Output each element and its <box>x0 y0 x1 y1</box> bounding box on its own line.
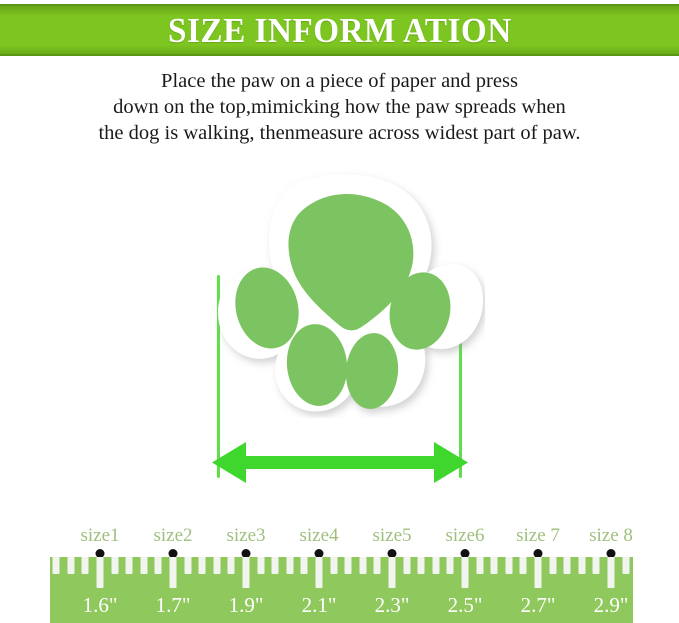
ruler-tick-minor <box>272 557 279 574</box>
size-label-4: size4 <box>299 524 338 548</box>
header-banner: SIZE INFORM ATION <box>0 4 679 56</box>
ruler-tick-minor <box>330 557 337 574</box>
ruler-tick-minor <box>126 557 133 574</box>
instruction-line-2: down on the top,mimicking how the paw sp… <box>0 94 679 120</box>
size-label-6: size6 <box>445 524 484 548</box>
ruler-tick-minor <box>476 557 483 574</box>
size-label-3: size3 <box>226 524 265 548</box>
ruler-tick-minor <box>67 557 74 574</box>
ruler-tick-major-6 <box>462 557 469 588</box>
ruler-tick-minor <box>520 557 527 574</box>
measure-label-1: 1.6" <box>83 593 118 617</box>
ruler-tick-minor <box>228 557 235 574</box>
ruler-tick-major-4 <box>316 557 323 588</box>
ruler-tick-major-3 <box>243 557 250 588</box>
ruler-tick-minor <box>564 557 571 574</box>
page-title: SIZE INFORM ATION <box>168 13 512 48</box>
instruction-line-3: the dog is walking, thenmeasure across w… <box>0 120 679 146</box>
measure-label-3: 1.9" <box>229 593 264 617</box>
size-label-row: size1 size2 size3 size4 size5 size6 size… <box>50 524 633 552</box>
dog-paw-icon <box>195 168 485 418</box>
paw-diagram <box>0 160 679 510</box>
measure-label-7: 2.7" <box>521 593 556 617</box>
ruler-tick-minor <box>578 557 585 574</box>
ruler-tick-minor <box>257 557 264 574</box>
ruler-tick-minor <box>199 557 206 574</box>
ruler-tick-minor <box>418 557 425 574</box>
ruler-tick-minor <box>593 557 600 574</box>
ruler-tick-minor <box>403 557 410 574</box>
ruler-tick-minor <box>432 557 439 574</box>
ruler-tick-minor <box>622 557 629 574</box>
ruler-tick-minor <box>184 557 191 574</box>
ruler-tick-minor <box>111 557 118 574</box>
ruler-tick-minor <box>345 557 352 574</box>
ruler-tick-major-2 <box>170 557 177 588</box>
ruler-body: 1.6" 1.7" 1.9" 2.1" 2.3" 2.5" 2.7" 2.9" <box>50 557 633 623</box>
size-label-1: size1 <box>80 524 119 548</box>
ruler-tick-major-1 <box>97 557 104 588</box>
ruler-tick-minor <box>286 557 293 574</box>
size-label-2: size2 <box>153 524 192 548</box>
ruler-tick-minor <box>447 557 454 574</box>
ruler-tick-minor <box>82 557 89 574</box>
ruler-tick-minor <box>213 557 220 574</box>
measure-label-4: 2.1" <box>302 593 337 617</box>
instruction-line-1: Place the paw on a piece of paper and pr… <box>0 68 679 94</box>
ruler-tick-minor <box>155 557 162 574</box>
ruler-tick-major-5 <box>389 557 396 588</box>
measure-label-5: 2.3" <box>375 593 410 617</box>
ruler-tick-minor <box>359 557 366 574</box>
measure-label-8: 2.9" <box>594 593 629 617</box>
ruler-tick-minor <box>374 557 381 574</box>
ruler-tick-minor <box>505 557 512 574</box>
size-label-8: size 8 <box>589 524 633 548</box>
size-ruler: size1 size2 size3 size4 size5 size6 size… <box>50 524 633 623</box>
ruler-tick-major-7 <box>535 557 542 588</box>
ruler-tick-minor <box>53 557 60 574</box>
measure-label-6: 2.5" <box>448 593 483 617</box>
ruler-tick-minor <box>301 557 308 574</box>
ruler-tick-minor <box>549 557 556 574</box>
ruler-tick-minor <box>491 557 498 574</box>
measure-label-2: 1.7" <box>156 593 191 617</box>
instructions-text: Place the paw on a piece of paper and pr… <box>0 68 679 146</box>
size-label-5: size5 <box>372 524 411 548</box>
ruler-tick-major-8 <box>608 557 615 588</box>
double-headed-arrow-icon <box>210 440 470 486</box>
ruler-tick-minor <box>140 557 147 574</box>
size-label-7: size 7 <box>516 524 560 548</box>
